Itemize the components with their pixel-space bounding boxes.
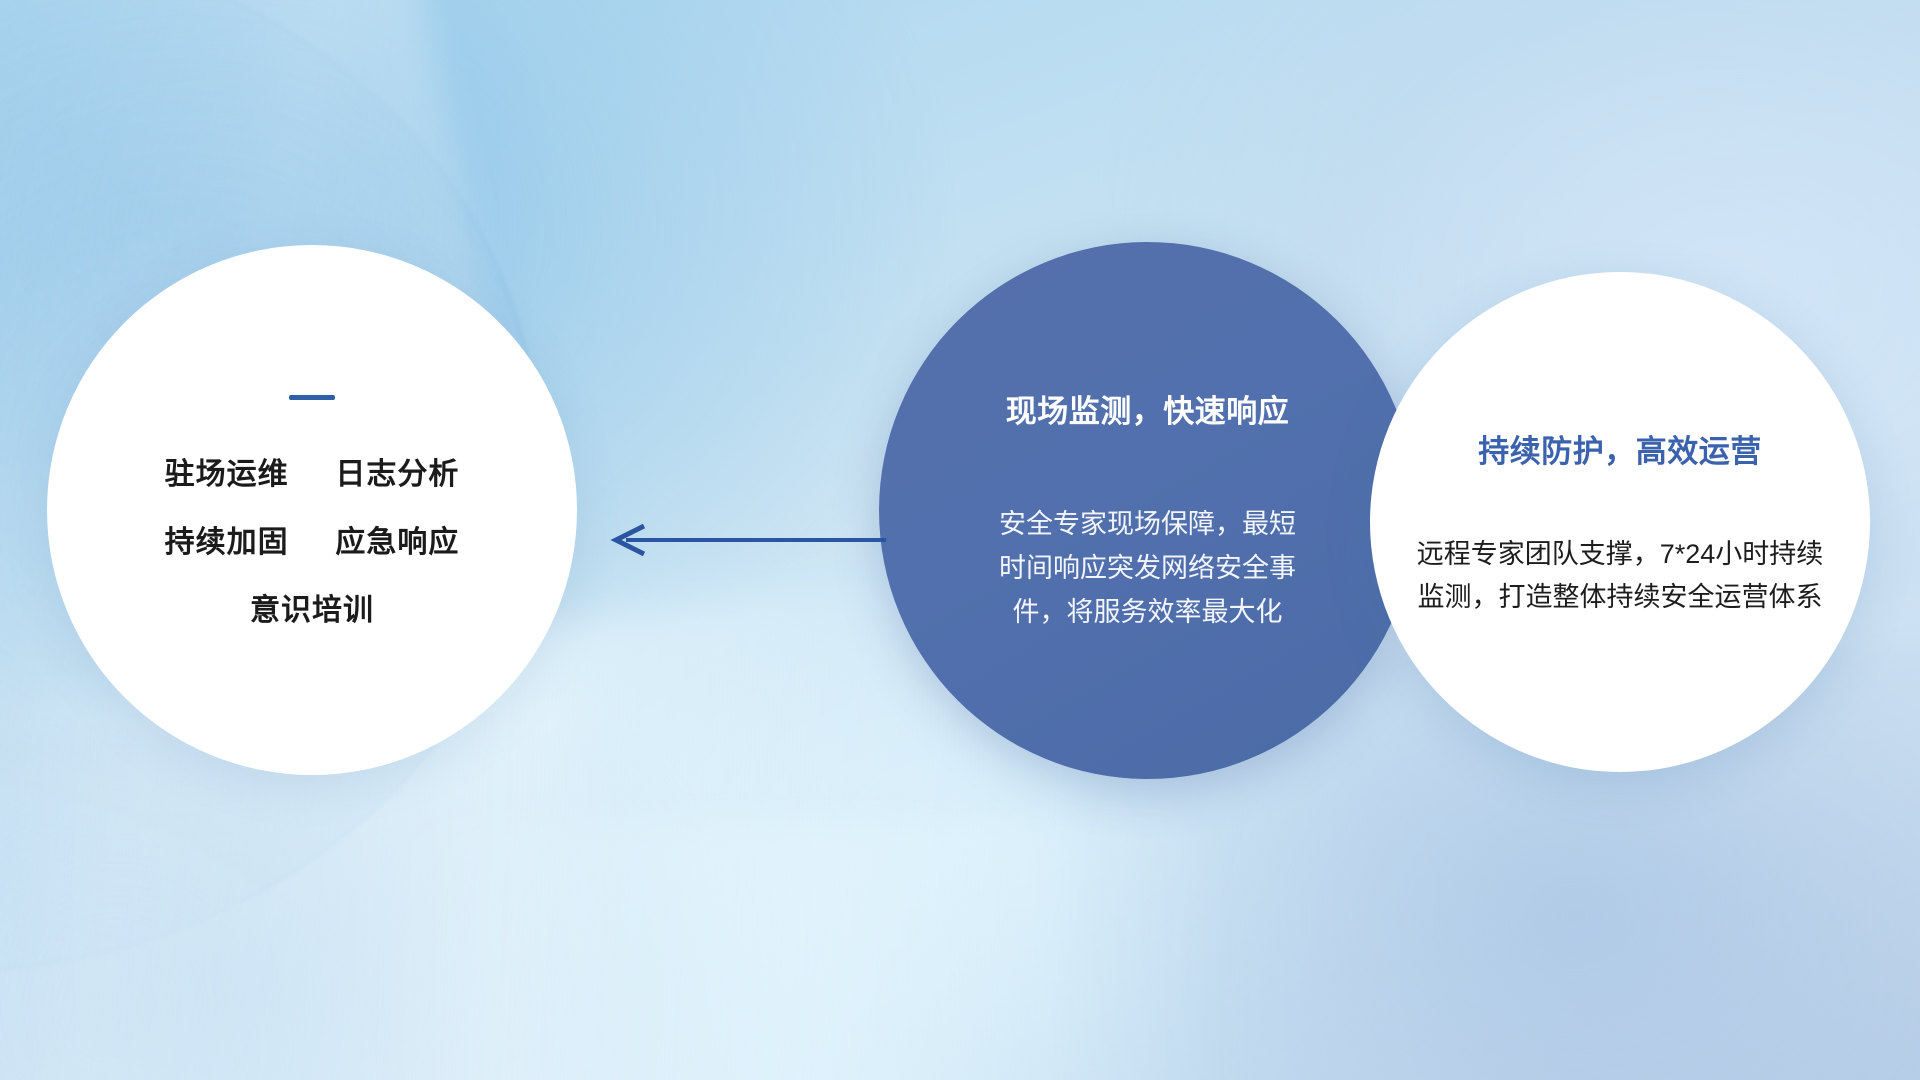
continuous-protection-title: 持续防护，高效运营 xyxy=(1478,426,1762,471)
keyword-item: 意识培训 xyxy=(250,594,374,627)
background-light-streak-bottom xyxy=(384,821,1229,1080)
keyword-item: 持续加固 xyxy=(165,526,289,559)
onsite-monitoring-body: 安全专家现场保障，最短时间响应突发网络安全事件，将服务效率最大化 xyxy=(988,503,1308,634)
keyword-row: 持续加固 应急响应 xyxy=(165,528,460,558)
keyword-item: 应急响应 xyxy=(335,526,459,559)
left-arrow-svg xyxy=(600,518,890,562)
keyword-row-last: 意识培训 xyxy=(250,596,374,626)
left-arrow-icon xyxy=(600,518,890,562)
onsite-monitoring-title: 现场监测，快速响应 xyxy=(1006,386,1290,431)
horizontal-dash-icon xyxy=(289,395,335,400)
keyword-item: 日志分析 xyxy=(335,458,459,491)
capability-keywords-circle: 驻场运维 日志分析 持续加固 应急响应 意识培训 xyxy=(47,245,577,775)
onsite-monitoring-circle: 现场监测，快速响应 安全专家现场保障，最短时间响应突发网络安全事件，将服务效率最… xyxy=(879,242,1416,779)
keyword-row: 驻场运维 日志分析 xyxy=(165,460,460,490)
continuous-protection-body: 远程专家团队支撑，7*24小时持续监测，打造整体持续安全运营体系 xyxy=(1406,533,1834,618)
continuous-protection-circle: 持续防护，高效运营 远程专家团队支撑，7*24小时持续监测，打造整体持续安全运营… xyxy=(1370,272,1870,772)
keyword-item: 驻场运维 xyxy=(165,458,289,491)
